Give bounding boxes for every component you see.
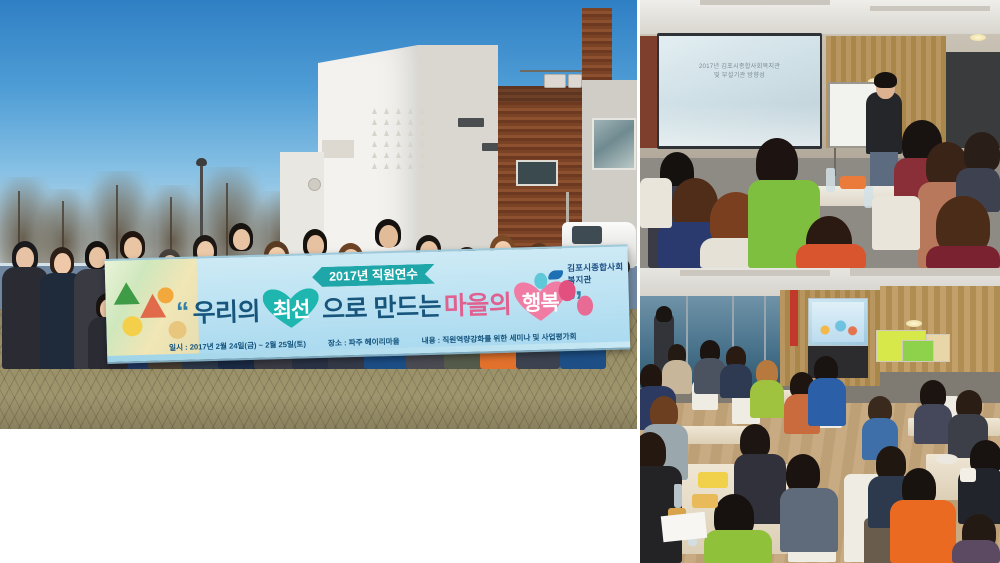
attendee-hair — [740, 424, 770, 458]
screen-glare — [659, 104, 820, 146]
cup — [960, 468, 976, 482]
ceiling-lamp-icon — [906, 320, 922, 327]
attendee-hair — [786, 454, 820, 492]
slogan-part-3: 마을의 — [443, 285, 511, 323]
heart-teal-icon: 최선 — [262, 288, 319, 330]
attendee-hair — [756, 138, 798, 186]
balloon — [577, 295, 594, 315]
presenter-hair — [874, 72, 897, 88]
wall-accent-strip — [790, 290, 798, 346]
facade-dot-grid — [372, 108, 425, 169]
building-window-slit — [458, 118, 484, 127]
attendee-body — [890, 500, 956, 563]
projector-slide-line-1: 2017년 김포시종합사회복지관 — [659, 62, 820, 71]
paper-handout — [661, 512, 707, 542]
snack-item — [692, 494, 718, 508]
chair — [872, 196, 920, 250]
slogan-heart-teal-word: 최선 — [272, 293, 309, 324]
attendee-hair — [656, 306, 672, 322]
water-bottle — [826, 168, 835, 192]
balloon — [558, 280, 576, 301]
attendee-hair — [876, 446, 906, 480]
ceiling-beam — [700, 0, 830, 5]
caption-area: 작년에도 이렇게 모여서 한 해를 정리하고 계획을 세웠지요~ — [0, 429, 637, 563]
wood-building-window — [516, 160, 558, 186]
ac-unit — [544, 74, 566, 88]
roof-railing — [520, 70, 582, 72]
presenter-torso — [866, 92, 902, 154]
attendee-body — [796, 244, 866, 268]
cup — [936, 454, 958, 464]
banner-place: 장소 : 파주 헤이리마을 — [328, 336, 400, 349]
ceiling-beam — [870, 6, 990, 11]
event-banner: 2017년 직원연수 김포시종합사회복지관 “ 우리의 최선 으로 만드는 마을… — [105, 244, 631, 364]
banner-ball — [122, 316, 143, 337]
projection-screen-canvas: 2017년 김포시종합사회복지관 및 부설기관 방향성 — [659, 36, 820, 146]
ceiling-lamp-icon — [970, 34, 986, 41]
banner-flag — [113, 282, 140, 305]
attendee-body — [926, 246, 1000, 268]
attendee-hair — [964, 132, 1000, 172]
projection-screen: 2017년 김포시종합사회복지관 및 부설기관 방향성 — [657, 33, 822, 149]
attendee-body — [720, 364, 752, 398]
projector-slide-line-2: 및 부설기관 방향성 — [659, 71, 820, 80]
wood-building-upper — [582, 8, 612, 84]
ac-unit — [568, 74, 582, 88]
attendee-hair — [640, 432, 666, 470]
slogan-part-2: 으로 만드는 — [321, 287, 441, 326]
workshop-room-photo — [640, 268, 1000, 563]
attendee-body — [780, 488, 838, 552]
wood-building-cornice — [498, 86, 582, 102]
presentation-slide: 2017년 직원연수 김포시종합사회복지관 “ 우리의 최선 으로 만드는 마을… — [0, 0, 1000, 563]
snack-item — [698, 472, 728, 488]
slogan-part-1: 우리의 — [192, 292, 260, 330]
chair — [640, 178, 672, 228]
building-notch — [322, 140, 354, 158]
projection-screen — [808, 298, 868, 346]
satellite-dish — [308, 178, 321, 191]
water-bottle — [674, 484, 682, 508]
grey-building-window — [592, 118, 636, 170]
post-it-board — [902, 340, 934, 362]
banner-ball — [157, 287, 173, 303]
projection-screen-image — [812, 302, 864, 342]
projector-slide-text: 2017년 김포시종합사회복지관 및 부설기관 방향성 — [659, 62, 820, 80]
attendee-body — [750, 380, 784, 418]
attendee-body — [952, 540, 1000, 563]
snack-item — [840, 176, 866, 189]
lecture-room-photo: 2017년 김포시종합사회복지관 및 부설기관 방향성 — [640, 0, 1000, 268]
quote-open: “ — [176, 298, 190, 325]
ceiling-beam — [850, 268, 1000, 276]
ceiling-beam — [680, 270, 830, 276]
group-photo-with-banner: 2017년 직원연수 김포시종합사회복지관 “ 우리의 최선 으로 만드는 마을… — [0, 0, 637, 429]
attendee-body — [704, 530, 772, 563]
pavement-shadow — [0, 395, 637, 429]
slogan-heart-pink-word: 행복 — [522, 286, 559, 317]
attendee-body — [808, 378, 846, 426]
attendee-body — [914, 404, 952, 444]
